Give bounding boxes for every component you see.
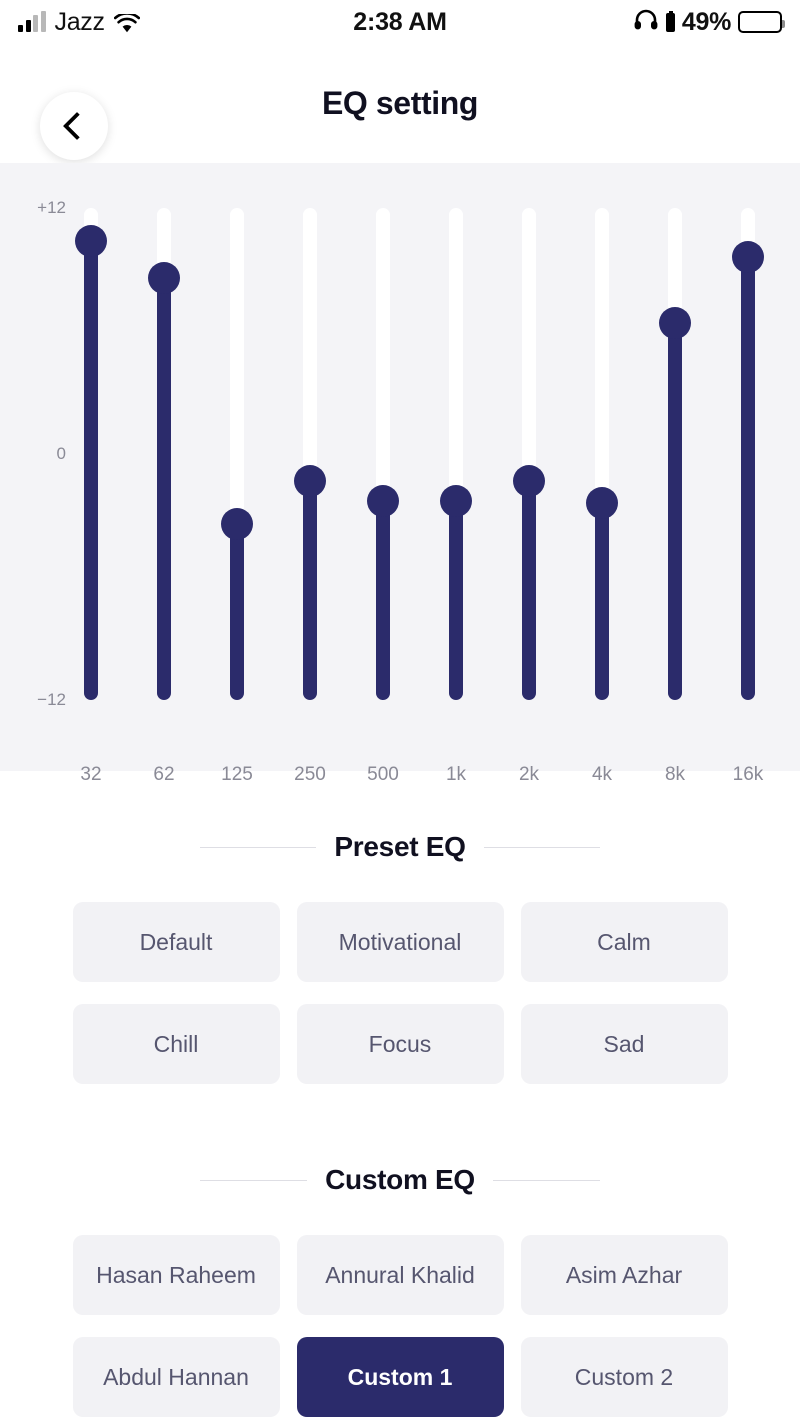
back-button[interactable] — [40, 92, 108, 160]
preset-calm-button[interactable]: Calm — [521, 902, 728, 982]
eq-slider-knob[interactable] — [221, 508, 253, 540]
eq-slider-2k[interactable]: 2k — [522, 208, 536, 700]
battery-icon — [738, 11, 782, 33]
eq-slider-knob[interactable] — [586, 487, 618, 519]
custom-annural-khalid-button[interactable]: Annural Khalid — [297, 1235, 504, 1315]
custom-eq-grid: Hasan RaheemAnnural KhalidAsim AzharAbdu… — [0, 1235, 800, 1417]
eq-slider-1k[interactable]: 1k — [449, 208, 463, 700]
preset-sad-button[interactable]: Sad — [521, 1004, 728, 1084]
status-bar-center: 2:38 AM — [353, 8, 447, 37]
eq-slider-knob[interactable] — [294, 465, 326, 497]
clock-label: 2:38 AM — [353, 8, 447, 37]
status-bar-left: Jazz — [18, 8, 353, 37]
eq-slider-fill — [303, 481, 317, 700]
eq-slider-fill — [376, 501, 390, 700]
eq-slider-knob[interactable] — [659, 307, 691, 339]
eq-slider-32[interactable]: 32 — [84, 208, 98, 700]
eq-axis-label: 0 — [8, 444, 66, 464]
eq-freq-label: 2k — [494, 764, 564, 786]
preset-eq-title: Preset EQ — [334, 831, 465, 863]
preset-eq-header: Preset EQ — [0, 831, 800, 863]
eq-slider-knob[interactable] — [440, 485, 472, 517]
eq-freq-label: 32 — [56, 764, 126, 786]
preset-chill-button[interactable]: Chill — [73, 1004, 280, 1084]
eq-slider-fill — [668, 323, 682, 700]
custom-eq-title: Custom EQ — [325, 1164, 475, 1196]
custom-eq-header: Custom EQ — [0, 1164, 800, 1196]
page-title: EQ setting — [322, 85, 478, 122]
eq-freq-label: 1k — [421, 764, 491, 786]
eq-slider-fill — [741, 257, 755, 700]
eq-freq-label: 125 — [202, 764, 272, 786]
eq-freq-label: 500 — [348, 764, 418, 786]
chevron-left-icon — [63, 112, 91, 140]
eq-axis-label: −12 — [8, 690, 66, 710]
carrier-label: Jazz — [55, 8, 105, 37]
status-bar-right: 49% — [447, 8, 782, 37]
eq-slider-knob[interactable] — [513, 465, 545, 497]
eq-slider-knob[interactable] — [75, 225, 107, 257]
eq-freq-label: 4k — [567, 764, 637, 786]
eq-freq-label: 62 — [129, 764, 199, 786]
eq-slider-fill — [449, 501, 463, 700]
custom-eq-section: Custom EQ Hasan RaheemAnnural KhalidAsim… — [0, 1164, 800, 1417]
custom-hasan-raheem-button[interactable]: Hasan Raheem — [73, 1235, 280, 1315]
eq-freq-label: 16k — [713, 764, 783, 786]
signal-bars-icon — [18, 12, 46, 32]
divider-left — [200, 847, 316, 848]
eq-freq-label: 8k — [640, 764, 710, 786]
eq-slider-fill — [157, 278, 171, 700]
eq-slider-16k[interactable]: 16k — [741, 208, 755, 700]
eq-slider-fill — [84, 241, 98, 700]
custom-custom-2-button[interactable]: Custom 2 — [521, 1337, 728, 1417]
eq-slider-knob[interactable] — [367, 485, 399, 517]
eq-slider-500[interactable]: 500 — [376, 208, 390, 700]
wifi-icon — [114, 12, 140, 32]
eq-slider-62[interactable]: 62 — [157, 208, 171, 700]
eq-slider-8k[interactable]: 8k — [668, 208, 682, 700]
custom-custom-1-button[interactable]: Custom 1 — [297, 1337, 504, 1417]
nav-bar: EQ setting — [0, 44, 800, 162]
custom-asim-azhar-button[interactable]: Asim Azhar — [521, 1235, 728, 1315]
eq-slider-250[interactable]: 250 — [303, 208, 317, 700]
divider-left — [200, 1180, 307, 1181]
eq-slider-knob[interactable] — [732, 241, 764, 273]
eq-y-axis: +120−12 — [0, 163, 66, 771]
preset-eq-section: Preset EQ DefaultMotivationalCalmChillFo… — [0, 831, 800, 1084]
divider-right — [493, 1180, 600, 1181]
headphone-battery-icon — [666, 13, 675, 32]
preset-motivational-button[interactable]: Motivational — [297, 902, 504, 982]
preset-default-button[interactable]: Default — [73, 902, 280, 982]
eq-sliders: 32621252505001k2k4k8k16k — [66, 163, 790, 771]
preset-focus-button[interactable]: Focus — [297, 1004, 504, 1084]
eq-slider-fill — [595, 503, 609, 700]
equalizer-panel: +120−12 32621252505001k2k4k8k16k — [0, 163, 800, 771]
eq-axis-label: +12 — [8, 198, 66, 218]
eq-slider-125[interactable]: 125 — [230, 208, 244, 700]
battery-percent-label: 49% — [682, 8, 731, 37]
divider-right — [484, 847, 600, 848]
headphones-icon — [633, 8, 659, 37]
custom-abdul-hannan-button[interactable]: Abdul Hannan — [73, 1337, 280, 1417]
preset-eq-grid: DefaultMotivationalCalmChillFocusSad — [0, 902, 800, 1084]
eq-slider-fill — [522, 481, 536, 700]
eq-slider-4k[interactable]: 4k — [595, 208, 609, 700]
status-bar: Jazz 2:38 AM 49% — [0, 0, 800, 44]
eq-freq-label: 250 — [275, 764, 345, 786]
eq-slider-fill — [230, 524, 244, 700]
eq-slider-knob[interactable] — [148, 262, 180, 294]
